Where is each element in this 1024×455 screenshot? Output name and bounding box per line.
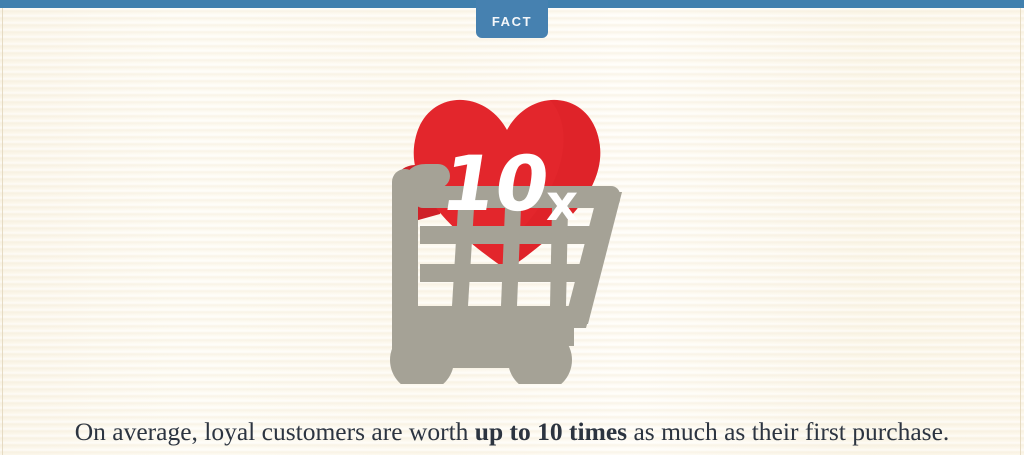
fact-badge: FACT xyxy=(476,0,548,38)
caption-text-before: On average, loyal customers are worth xyxy=(75,417,475,446)
cart-heart-illustration: 10 x xyxy=(374,74,646,384)
fact-caption: On average, loyal customers are worth up… xyxy=(0,417,1024,448)
multiplier-suffix-label: x xyxy=(546,174,578,232)
multiplier-label: 10 xyxy=(435,140,555,228)
fact-card: FACT xyxy=(0,0,1024,455)
fact-badge-label: FACT xyxy=(492,11,532,28)
left-edge-rule xyxy=(2,8,3,455)
right-edge-rule xyxy=(1020,8,1021,455)
caption-text-after: as much as their first purchase. xyxy=(627,417,949,446)
caption-emphasis: up to 10 times xyxy=(475,417,627,446)
